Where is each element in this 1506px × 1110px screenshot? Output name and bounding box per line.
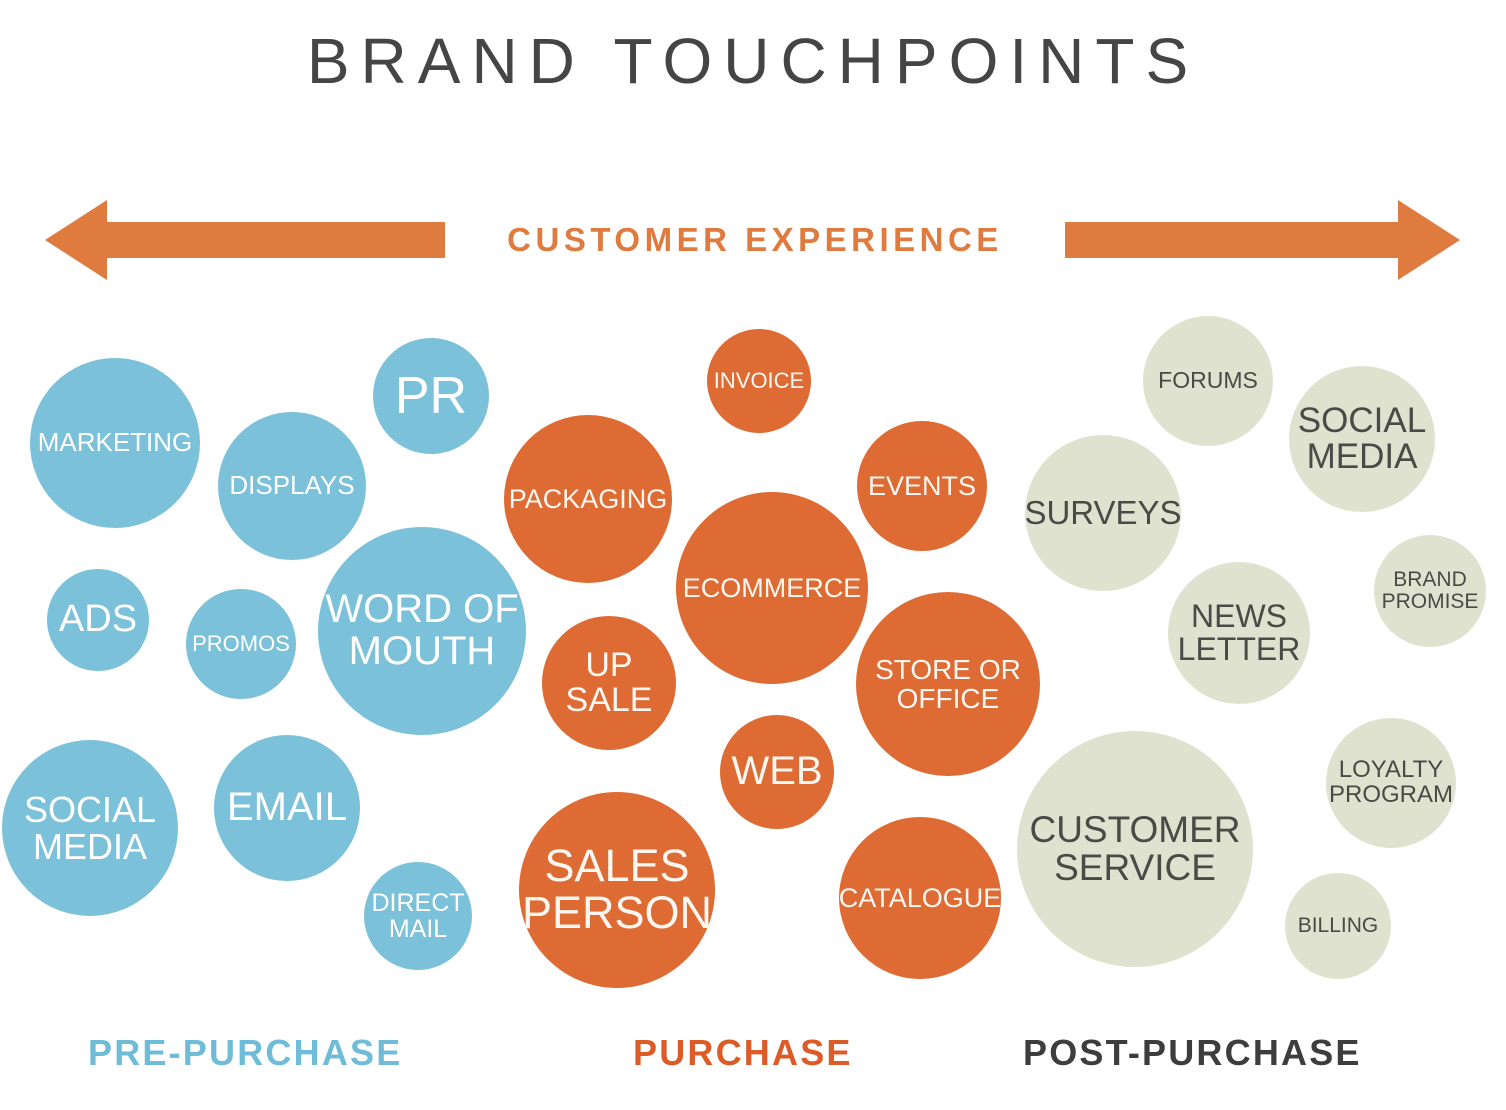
touchpoint-label: DIRECT MAIL (371, 890, 464, 942)
touchpoint-label: SURVEYS (1024, 496, 1181, 530)
touchpoint-label: PROMOS (192, 633, 290, 656)
touchpoint-label: STORE OR OFFICE (875, 655, 1021, 713)
touchpoint-bubble-ads[interactable]: ADS (47, 569, 149, 671)
infographic-canvas: BRAND TOUCHPOINTS CUSTOMER EXPERIENCE MA… (0, 0, 1506, 1110)
touchpoint-label: WORD OF MOUTH (325, 589, 518, 672)
touchpoint-label: CUSTOMER SERVICE (1029, 811, 1240, 888)
touchpoint-label: SOCIAL MEDIA (24, 791, 156, 866)
touchpoint-label: PR (395, 369, 467, 423)
touchpoint-label: FORUMS (1158, 369, 1258, 393)
touchpoint-bubble-email[interactable]: EMAIL (214, 735, 360, 881)
touchpoint-bubble-customer-service[interactable]: CUSTOMER SERVICE (1017, 731, 1253, 967)
touchpoint-label: SALES PERSON (522, 843, 712, 937)
stage-label-row: PRE-PURCHASE PURCHASE POST-PURCHASE (0, 1032, 1506, 1092)
touchpoint-bubble-packaging[interactable]: PACKAGING (504, 415, 672, 583)
touchpoint-bubble-promos[interactable]: PROMOS (186, 589, 296, 699)
touchpoint-bubble-word-of-mouth[interactable]: WORD OF MOUTH (318, 527, 526, 735)
touchpoint-bubble-forums[interactable]: FORUMS (1143, 316, 1273, 446)
touchpoint-bubble-pr[interactable]: PR (373, 338, 489, 454)
touchpoint-bubble-web[interactable]: WEB (720, 715, 834, 829)
touchpoint-label: PACKAGING (509, 485, 668, 513)
touchpoint-label: CATALOGUE (839, 884, 1002, 912)
touchpoint-bubble-marketing[interactable]: MARKETING (30, 358, 200, 528)
touchpoint-bubble-field: MARKETINGDISPLAYSPRADSPROMOSWORD OF MOUT… (0, 0, 1506, 1010)
stage-label-pre-purchase: PRE-PURCHASE (88, 1032, 402, 1074)
touchpoint-bubble-store-or-office[interactable]: STORE OR OFFICE (856, 592, 1040, 776)
touchpoint-label: LOYALTY PROGRAM (1329, 758, 1453, 808)
touchpoint-label: INVOICE (714, 370, 804, 393)
touchpoint-label: DISPLAYS (229, 472, 354, 499)
touchpoint-bubble-surveys[interactable]: SURVEYS (1025, 435, 1181, 591)
touchpoint-label: WEB (731, 751, 822, 793)
touchpoint-label: BILLING (1298, 915, 1379, 937)
touchpoint-label: MARKETING (38, 429, 193, 456)
touchpoint-label: NEWS LETTER (1178, 600, 1301, 667)
touchpoint-label: EVENTS (868, 472, 976, 500)
touchpoint-label: EMAIL (227, 787, 347, 829)
stage-label-purchase: PURCHASE (633, 1032, 853, 1074)
touchpoint-bubble-invoice[interactable]: INVOICE (707, 329, 811, 433)
touchpoint-bubble-ecommerce[interactable]: ECOMMERCE (676, 492, 868, 684)
touchpoint-bubble-up-sale[interactable]: UP SALE (542, 616, 676, 750)
touchpoint-bubble-events[interactable]: EVENTS (857, 421, 987, 551)
touchpoint-bubble-sales-person[interactable]: SALES PERSON (519, 792, 715, 988)
touchpoint-bubble-news-letter[interactable]: NEWS LETTER (1168, 562, 1310, 704)
touchpoint-bubble-direct-mail[interactable]: DIRECT MAIL (364, 862, 472, 970)
touchpoint-bubble-loyalty-program[interactable]: LOYALTY PROGRAM (1326, 718, 1456, 848)
touchpoint-bubble-displays[interactable]: DISPLAYS (218, 412, 366, 560)
touchpoint-label: UP SALE (566, 648, 653, 719)
touchpoint-bubble-billing[interactable]: BILLING (1285, 873, 1391, 979)
stage-label-post-purchase: POST-PURCHASE (1023, 1032, 1362, 1074)
touchpoint-bubble-social-media[interactable]: SOCIAL MEDIA (1289, 366, 1435, 512)
touchpoint-bubble-catalogue[interactable]: CATALOGUE (839, 817, 1001, 979)
touchpoint-label: SOCIAL MEDIA (1298, 403, 1426, 476)
touchpoint-label: ADS (59, 600, 137, 640)
touchpoint-bubble-brand-promise[interactable]: BRAND PROMISE (1374, 535, 1486, 647)
touchpoint-bubble-social-media[interactable]: SOCIAL MEDIA (2, 740, 178, 916)
touchpoint-label: BRAND PROMISE (1382, 569, 1479, 613)
touchpoint-label: ECOMMERCE (683, 574, 862, 602)
